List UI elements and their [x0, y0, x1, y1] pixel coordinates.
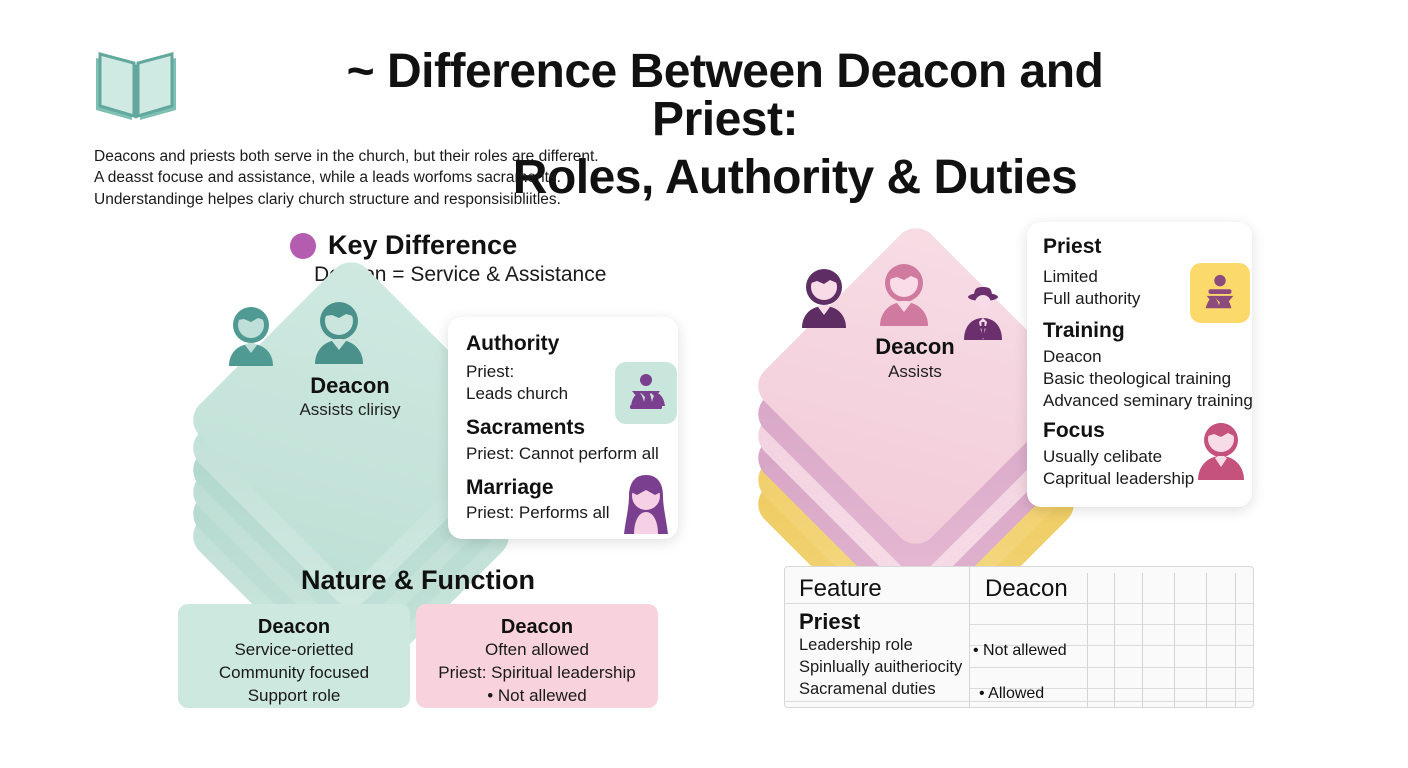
title-line-1: ~ Difference Between Deacon and Priest:: [300, 48, 1150, 144]
table-divider: [969, 624, 1253, 625]
woman-icon-pink: [1195, 418, 1247, 485]
nf-right-line-3: • Not allewed: [416, 685, 658, 708]
nature-function-box-deacon[interactable]: Deacon Service-orietted Community focuse…: [178, 604, 410, 708]
table-left-block: Priest Leadership role Spinlually auithe…: [799, 609, 962, 700]
key-difference-title: Key Difference: [328, 230, 517, 261]
left-stack-sublabel: Assists clirisy: [220, 400, 480, 420]
nf-left-heading: Deacon: [178, 616, 410, 639]
focus-heading: Focus: [1043, 418, 1105, 443]
left-stack-label: Deacon: [220, 373, 480, 399]
nf-right-line-1: Often allowed: [416, 639, 658, 662]
table-left-heading: Priest: [799, 609, 962, 635]
person-icon-pink: [876, 262, 932, 333]
table-divider: [1142, 573, 1143, 707]
priest-line-2: Full authority: [1043, 288, 1140, 310]
authority-line-2: Leads church: [466, 383, 568, 405]
focus-line-1: Usually celibate: [1043, 446, 1162, 468]
nature-function-title: Nature & Function: [178, 565, 658, 596]
left-stack-diagram: Deacon Assists clirisy: [215, 300, 485, 560]
table-cell-allowed: • Allowed: [979, 685, 1044, 703]
table-divider: [1206, 573, 1207, 707]
nf-right-line-2: Priest: Spiritual leadership: [416, 662, 658, 685]
sacraments-heading: Sacraments: [466, 415, 585, 440]
table-divider: [969, 567, 970, 707]
right-stack-label: Deacon: [785, 334, 1045, 360]
nf-left-line-1: Service-orietted: [178, 639, 410, 662]
page-subtitle: Deacons and priests both serve in the ch…: [94, 146, 654, 210]
nf-left-line-3: Support role: [178, 685, 410, 708]
table-row: Sacramenal duties: [799, 679, 962, 701]
marriage-line-1: Priest: Performs all: [466, 502, 610, 524]
priest-card[interactable]: Priest Limited Full authority Training D…: [1027, 222, 1252, 507]
sacraments-line-1: Priest: Cannot perform all: [466, 443, 659, 465]
priest-heading: Priest: [1043, 234, 1101, 259]
authority-card[interactable]: Authority Priest: Leads church Sacrament…: [448, 317, 678, 539]
table-header-deacon: Deacon: [985, 575, 1068, 603]
subtitle-line-1: Deacons and priests both serve in the ch…: [94, 146, 654, 167]
table-header-feature: Feature: [799, 575, 882, 603]
table-divider: [1235, 573, 1236, 707]
table-divider: [969, 667, 1253, 668]
training-heading: Training: [1043, 318, 1125, 343]
marriage-heading: Marriage: [466, 475, 554, 500]
person-icon-teal-left: [225, 306, 277, 373]
right-stack-sublabel: Assists: [785, 362, 1045, 382]
nature-function-box-priest[interactable]: Deacon Often allowed Priest: Spiritual l…: [416, 604, 658, 708]
open-book-icon: [88, 44, 184, 126]
priest-line-1: Limited: [1043, 266, 1098, 288]
right-stack-diagram: Deacon Assists: [780, 262, 1050, 532]
key-difference-dot-icon: [290, 233, 316, 259]
woman-icon-purple: [620, 472, 672, 539]
training-line-1: Deacon: [1043, 346, 1102, 368]
table-divider: [1174, 573, 1175, 707]
person-icon-teal-center: [311, 300, 367, 371]
congregation-icon: [615, 362, 677, 424]
nf-right-heading: Deacon: [416, 616, 658, 639]
table-divider: [1114, 573, 1115, 707]
comparison-table[interactable]: Feature Deacon Priest Leadership role Sp…: [784, 566, 1254, 708]
person-icon-purple: [798, 268, 850, 335]
table-row: Leadership role: [799, 635, 962, 657]
table-row: Spinlually auitheriocity: [799, 657, 962, 679]
focus-line-2: Capritual leadership: [1043, 468, 1194, 490]
table-divider: [785, 603, 1253, 604]
training-line-2: Basic theological training: [1043, 368, 1231, 390]
nf-left-line-2: Community focused: [178, 662, 410, 685]
subtitle-line-3: Understandinge helpes clariy church stru…: [94, 189, 654, 210]
authority-line-1: Priest:: [466, 361, 514, 383]
subtitle-line-2: A deasst focuse and assistance, while a …: [94, 167, 654, 188]
table-cell-not-allowed: • Not allewed: [973, 642, 1067, 660]
training-line-3: Advanced seminary training: [1043, 390, 1253, 412]
congregation-icon: [1190, 263, 1250, 323]
infographic-canvas: ~ Difference Between Deacon and Priest: …: [0, 0, 1408, 768]
table-divider: [1087, 573, 1088, 707]
authority-heading: Authority: [466, 331, 559, 356]
